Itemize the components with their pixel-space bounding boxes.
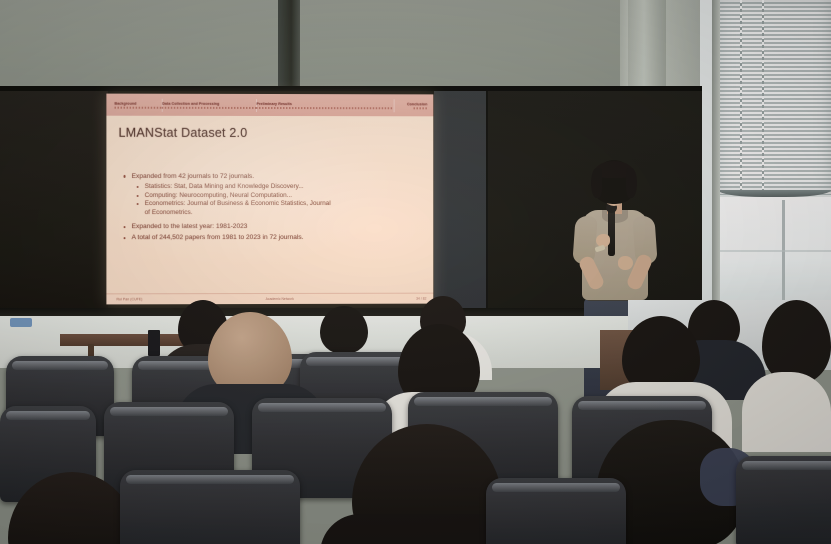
equipment-indicator [10,318,32,327]
presenter-hand-right [618,256,633,270]
nav-section-title: Conclusion [395,102,428,106]
seat-gloss [306,357,412,366]
blind-bottom-rail[interactable] [718,190,831,197]
seat-gloss [414,397,552,406]
slide-footer-author: Rui Pan (CUFE) [116,297,142,301]
seat-gloss [110,407,228,416]
presenter-hair-side-right [626,168,637,198]
slide-footer: Rui Pan (CUFE) Academic Network 34 / 82 [106,293,433,305]
window [700,0,831,300]
nav-section-dots [414,107,428,109]
bullet-item: Econometrics: Journal of Business & Econ… [123,200,426,209]
attendee-far-right-shoulders [742,372,831,452]
blackboard-top-edge [0,86,702,91]
blackboard-seam [486,88,488,318]
bullet-item-continuation: of Econometrics. [123,209,426,218]
seat-gloss [742,461,831,470]
slide-body: LMANStat Dataset 2.0 Expanded from 42 jo… [106,116,433,305]
nav-section-title: Background [114,101,161,106]
blackboard-panel-left [0,86,108,318]
seat-gloss [126,475,294,484]
blackboard-panel-middle [434,86,488,318]
nav-section-data-collection: Data Collection and Processing [162,101,255,108]
seat-gloss [492,483,620,492]
blind-cord-right[interactable] [762,0,764,195]
wall-speaker-icon [148,330,160,356]
slide-bullet-list: Expanded from 42 journals to 72 journals… [123,172,426,245]
lecture-hall-photo: Background Data Collection and Processin… [0,0,831,544]
projected-slide: Background Data Collection and Processin… [106,94,433,305]
window-glass-glow [718,197,831,300]
nav-section-dots [114,107,161,109]
blind-cord-left[interactable] [740,0,742,195]
window-frame [712,0,720,300]
nav-section-title: Data Collection and Processing [162,101,255,106]
bullet-item: Expanded to the latest year: 1981-2023 [123,222,426,231]
window-mullion-horizontal [718,250,831,252]
slide-footer-center: Academic Network [266,297,294,301]
bullet-item: Statistics: Stat, Data Mining and Knowle… [123,183,426,192]
slide-footer-page: 34 / 82 [416,297,426,301]
seat-gloss [6,411,90,420]
seat[interactable] [120,470,300,544]
window-blinds[interactable] [718,0,831,195]
nav-section-conclusion: Conclusion [395,102,428,109]
seat[interactable] [486,478,626,544]
nav-section-preliminary-results: Preliminary Results [256,101,393,108]
seat[interactable] [736,456,831,544]
bullet-item: Computing: Neurocomputing, Neural Comput… [123,192,426,201]
seat-gloss [258,403,386,412]
bullet-item: A total of 244,502 papers from 1981 to 2… [123,233,426,242]
slide-title: LMANStat Dataset 2.0 [118,126,247,140]
wall-pillar [278,0,300,92]
bullet-item: Expanded from 42 journals to 72 journals… [123,172,426,181]
slide-navigation-bar: Background Data Collection and Processin… [106,94,433,117]
nav-section-background: Background [114,101,161,108]
presenter-hair-side-left [591,168,602,198]
nav-section-dots [162,107,255,109]
seat-gloss [578,401,706,410]
nav-section-title: Preliminary Results [256,101,393,106]
attendee-left-short-hair [320,306,368,354]
seat-gloss [12,361,108,370]
nav-section-dots [256,107,393,109]
